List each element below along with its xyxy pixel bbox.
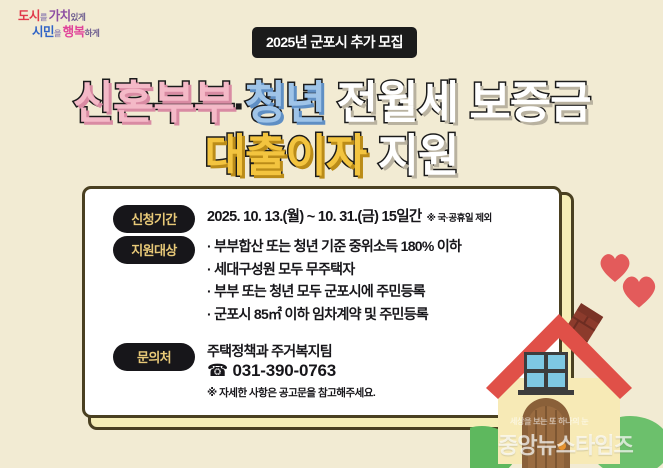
campaign-badge: 2025년 군포시 추가 모집 xyxy=(252,27,417,58)
contact-note: ※ 자세한 사항은 공고문을 참고해주세요. xyxy=(207,385,375,400)
list-item: · 부부합산 또는 청년 기준 중위소득 180% 이하 xyxy=(207,235,461,258)
contact-phone[interactable]: ☎ 031-390-0763 xyxy=(207,361,336,381)
label-application-period: 신청기간 xyxy=(113,205,195,233)
slogan-line-2: 시민을 행복하게 xyxy=(32,25,99,41)
eligibility-list: · 부부합산 또는 청년 기준 중위소득 180% 이하 · 세대구성원 모두 … xyxy=(207,235,461,325)
poster-title-line-2: 대출이자 지원 xyxy=(0,119,663,184)
application-period-note: ※ 국·공휴일 제외 xyxy=(427,213,492,224)
slogan-particle-2: 을 xyxy=(54,29,63,38)
slogan-word-citizen: 시민 xyxy=(32,25,54,39)
city-slogan: 도시를 가치있게 시민을 행복하게 xyxy=(18,9,99,41)
watermark-logo: 중앙뉴스타임즈 xyxy=(498,428,633,460)
label-contact: 문의처 xyxy=(113,343,195,371)
list-item: · 군포시 85㎡ 이하 임차계약 및 주민등록 xyxy=(207,303,461,326)
title-loan-interest: 대출이자 xyxy=(205,130,367,181)
slogan-word-value: 가치 xyxy=(49,9,71,23)
poster-canvas: 도시를 가치있게 시민을 행복하게 2025년 군포시 추가 모집 신혼부부·청… xyxy=(0,0,663,468)
application-period-text: 2025. 10. 13.(월) ~ 10. 31.(금) 15일간 xyxy=(207,209,422,225)
slogan-word-city: 도시 xyxy=(18,9,40,23)
slogan-suffix-2: 하게 xyxy=(85,28,100,38)
slogan-word-happy: 행복 xyxy=(63,25,85,39)
list-item: · 부부 또는 청년 모두 군포시에 주민등록 xyxy=(207,280,461,303)
contact-department: 주택정책과 주거복지팀 xyxy=(207,341,332,361)
label-eligibility: 지원대상 xyxy=(113,236,195,264)
slogan-line-1: 도시를 가치있게 xyxy=(18,9,99,25)
watermark-subtitle: 세상을 보는 또 하나의 눈 xyxy=(510,416,588,427)
value-application-period: 2025. 10. 13.(월) ~ 10. 31.(금) 15일간※ 국·공휴… xyxy=(207,205,492,226)
slogan-particle-1: 를 xyxy=(40,13,49,22)
title-support: 지원 xyxy=(378,130,459,181)
list-item: · 세대구성원 모두 무주택자 xyxy=(207,258,461,281)
slogan-suffix-1: 있게 xyxy=(71,12,86,22)
